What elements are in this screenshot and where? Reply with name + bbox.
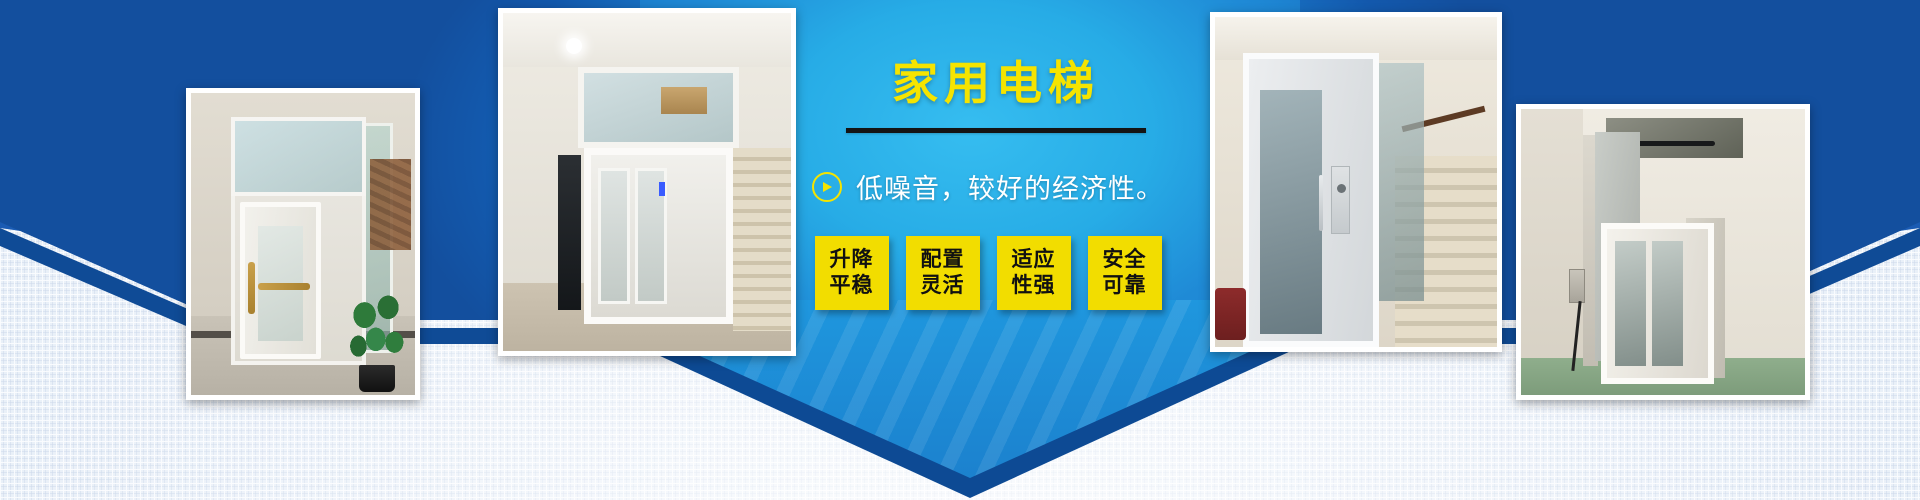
feature-badge-4-line2: 可靠: [1103, 273, 1147, 299]
feature-badge-2-line2: 灵活: [921, 273, 965, 299]
photo-glass-home-elevator-with-plant: [186, 88, 420, 400]
feature-badge-3: 适应 性强: [997, 236, 1071, 310]
feature-badge-2: 配置 灵活: [906, 236, 980, 310]
feature-badge-2-line1: 配置: [921, 247, 965, 273]
banner-text-column: 家用电梯 低噪音，较好的经济性。 升降 平稳 配置 灵活 适应 性强: [640, 60, 1300, 380]
page-title: 家用电梯: [640, 60, 1300, 106]
feature-badge-list: 升降 平稳 配置 灵活 适应 性强 安全 可靠: [640, 236, 1300, 310]
photo-elevator-installation: [1516, 104, 1810, 400]
feature-badge-1: 升降 平稳: [815, 236, 889, 310]
feature-badge-3-line1: 适应: [1012, 247, 1056, 273]
feature-badge-4: 安全 可靠: [1088, 236, 1162, 310]
feature-badge-3-line2: 性强: [1012, 273, 1056, 299]
banner-subtitle: 低噪音，较好的经济性。: [640, 167, 1300, 206]
title-divider: [846, 128, 1146, 133]
feature-badge-1-line2: 平稳: [830, 273, 874, 299]
banner-subtitle-text: 低噪音，较好的经济性。: [856, 167, 1164, 206]
home-elevator-banner: 家用电梯 低噪音，较好的经济性。 升降 平稳 配置 灵活 适应 性强: [0, 0, 1920, 500]
feature-badge-1-line1: 升降: [830, 247, 874, 273]
circled-play-arrow-icon: [812, 172, 842, 202]
feature-badge-4-line1: 安全: [1103, 247, 1147, 273]
